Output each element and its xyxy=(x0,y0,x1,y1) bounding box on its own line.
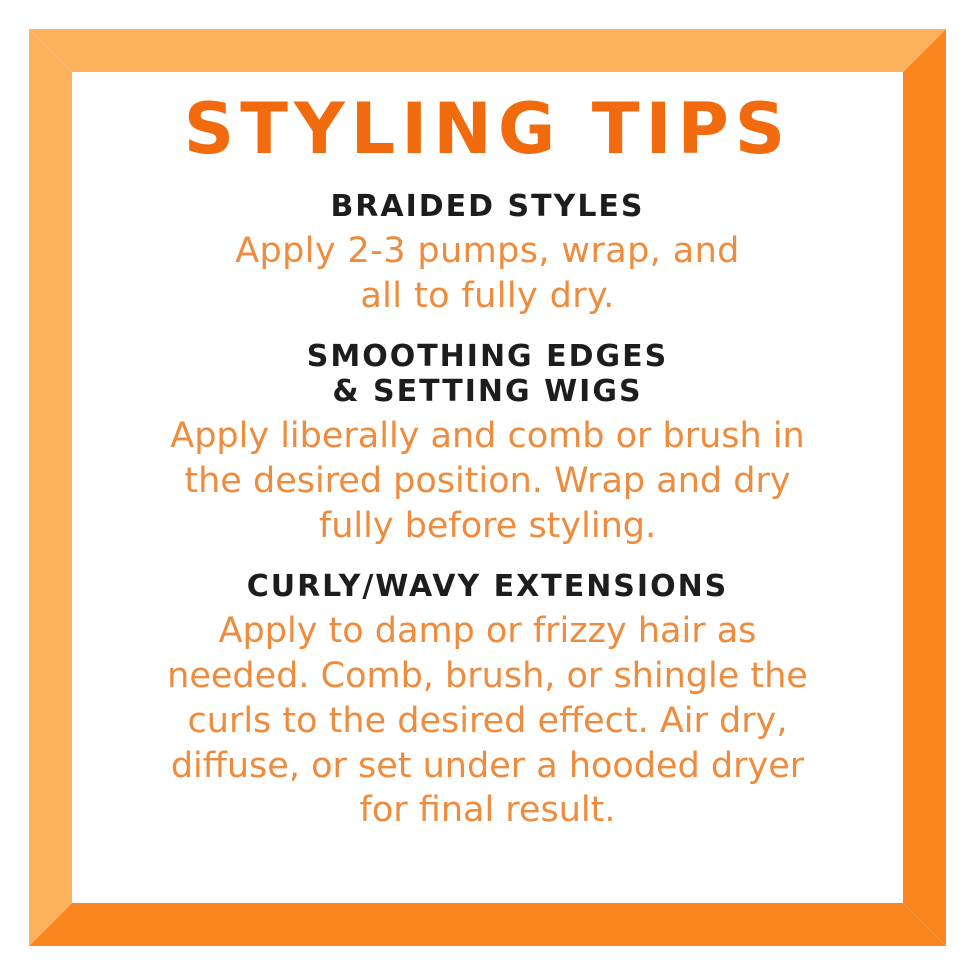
page-title: STYLING TIPS xyxy=(80,94,895,164)
section-body-line: Apply to damp or frizzy hair as xyxy=(80,609,895,654)
section-heading: CURLY/WAVY EXTENSIONS xyxy=(80,570,895,605)
tip-section-smoothing-edges-setting-wigs: SMOOTHING EDGES & SETTING WIGS Apply lib… xyxy=(80,340,895,548)
section-body-line: the desired position. Wrap and dry xyxy=(80,459,895,504)
section-body: Apply liberally and comb or brush in the… xyxy=(80,414,895,548)
frame-band-left xyxy=(29,29,72,946)
section-body-line: for final result. xyxy=(80,788,895,833)
section-body-line: Apply 2-3 pumps, wrap, and xyxy=(80,229,895,274)
decorative-frame: STYLING TIPS BRAIDED STYLES Apply 2-3 pu… xyxy=(29,29,946,946)
frame-band-right xyxy=(903,29,946,946)
tip-section-curly-wavy-extensions: CURLY/WAVY EXTENSIONS Apply to damp or f… xyxy=(80,570,895,833)
section-body-line: all to fully dry. xyxy=(80,274,895,319)
section-body: Apply to damp or frizzy hair as needed. … xyxy=(80,609,895,833)
section-heading-line: SMOOTHING EDGES xyxy=(80,340,895,375)
poster-canvas: STYLING TIPS BRAIDED STYLES Apply 2-3 pu… xyxy=(0,0,975,975)
section-body-line: needed. Comb, brush, or shingle the xyxy=(80,654,895,699)
poster-card: STYLING TIPS BRAIDED STYLES Apply 2-3 pu… xyxy=(72,72,903,903)
tip-section-braided-styles: BRAIDED STYLES Apply 2-3 pumps, wrap, an… xyxy=(80,190,895,318)
section-body-line: diffuse, or set under a hooded dryer xyxy=(80,744,895,789)
section-heading-line: & SETTING WIGS xyxy=(80,375,895,410)
section-body-line: fully before styling. xyxy=(80,504,895,549)
poster-content: STYLING TIPS BRAIDED STYLES Apply 2-3 pu… xyxy=(72,72,903,833)
frame-band-top xyxy=(29,29,946,72)
section-body-line: curls to the desired effect. Air dry, xyxy=(80,699,895,744)
section-body-line: Apply liberally and comb or brush in xyxy=(80,414,895,459)
section-heading-line: CURLY/WAVY EXTENSIONS xyxy=(80,570,895,605)
section-heading: BRAIDED STYLES xyxy=(80,190,895,225)
frame-band-bottom xyxy=(29,903,946,946)
section-body: Apply 2-3 pumps, wrap, and all to fully … xyxy=(80,229,895,319)
section-heading: SMOOTHING EDGES & SETTING WIGS xyxy=(80,340,895,410)
section-heading-line: BRAIDED STYLES xyxy=(80,190,895,225)
